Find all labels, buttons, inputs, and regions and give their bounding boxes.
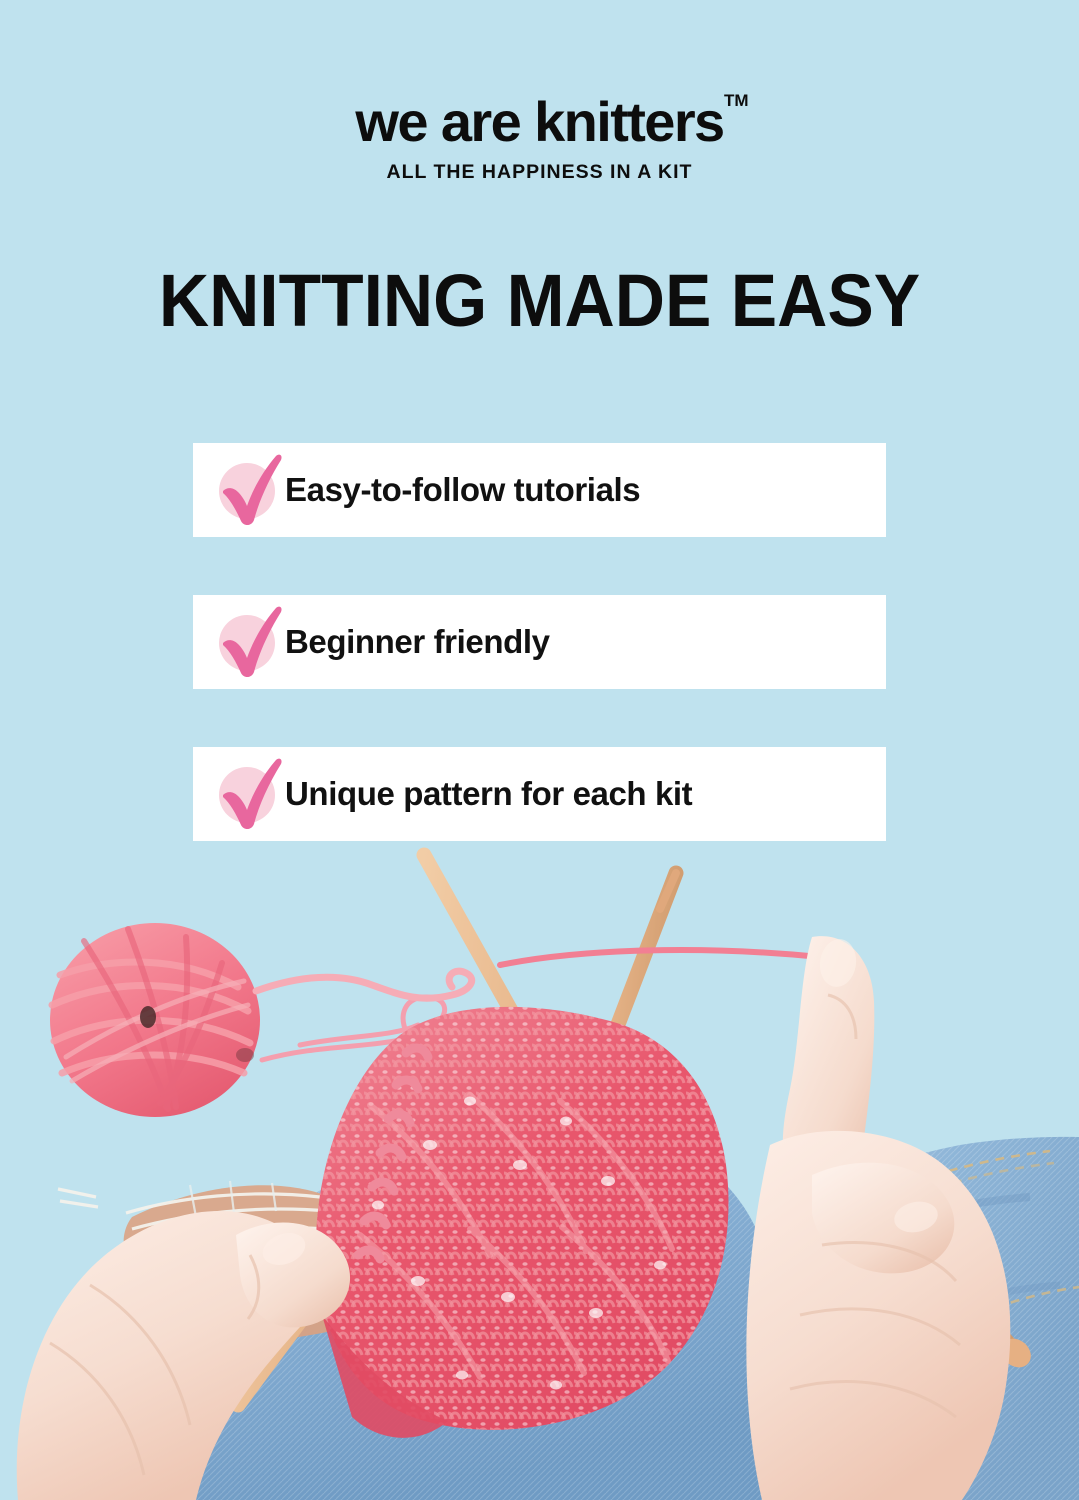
feature-list: Easy-to-follow tutorials Beginner friend… — [193, 443, 886, 841]
trademark-symbol: TM — [724, 92, 749, 109]
brand-logo: we are knittersTM ALL THE HAPPINESS IN A… — [0, 94, 1079, 183]
feature-label: Beginner friendly — [285, 623, 550, 661]
brand-wordmark: we are knittersTM — [355, 94, 723, 150]
feature-card: Beginner friendly — [193, 595, 886, 689]
feature-label: Easy-to-follow tutorials — [285, 471, 640, 509]
feature-label: Unique pattern for each kit — [285, 775, 692, 813]
knitting-photo — [0, 845, 1079, 1500]
page-title: KNITTING MADE EASY — [32, 264, 1046, 338]
check-icon — [213, 603, 289, 681]
check-icon — [213, 755, 289, 833]
feature-card: Unique pattern for each kit — [193, 747, 886, 841]
check-icon-wrap — [193, 595, 285, 689]
brand-tagline: ALL THE HAPPINESS IN A KIT — [0, 163, 1079, 183]
check-icon-wrap — [193, 443, 285, 537]
knitting-photo-svg — [0, 845, 1079, 1500]
check-icon-wrap — [193, 747, 285, 841]
check-icon — [213, 451, 289, 529]
brand-wordmark-text: we are knitters — [355, 90, 723, 153]
poster: we are knittersTM ALL THE HAPPINESS IN A… — [0, 0, 1079, 1500]
feature-card: Easy-to-follow tutorials — [193, 443, 886, 537]
